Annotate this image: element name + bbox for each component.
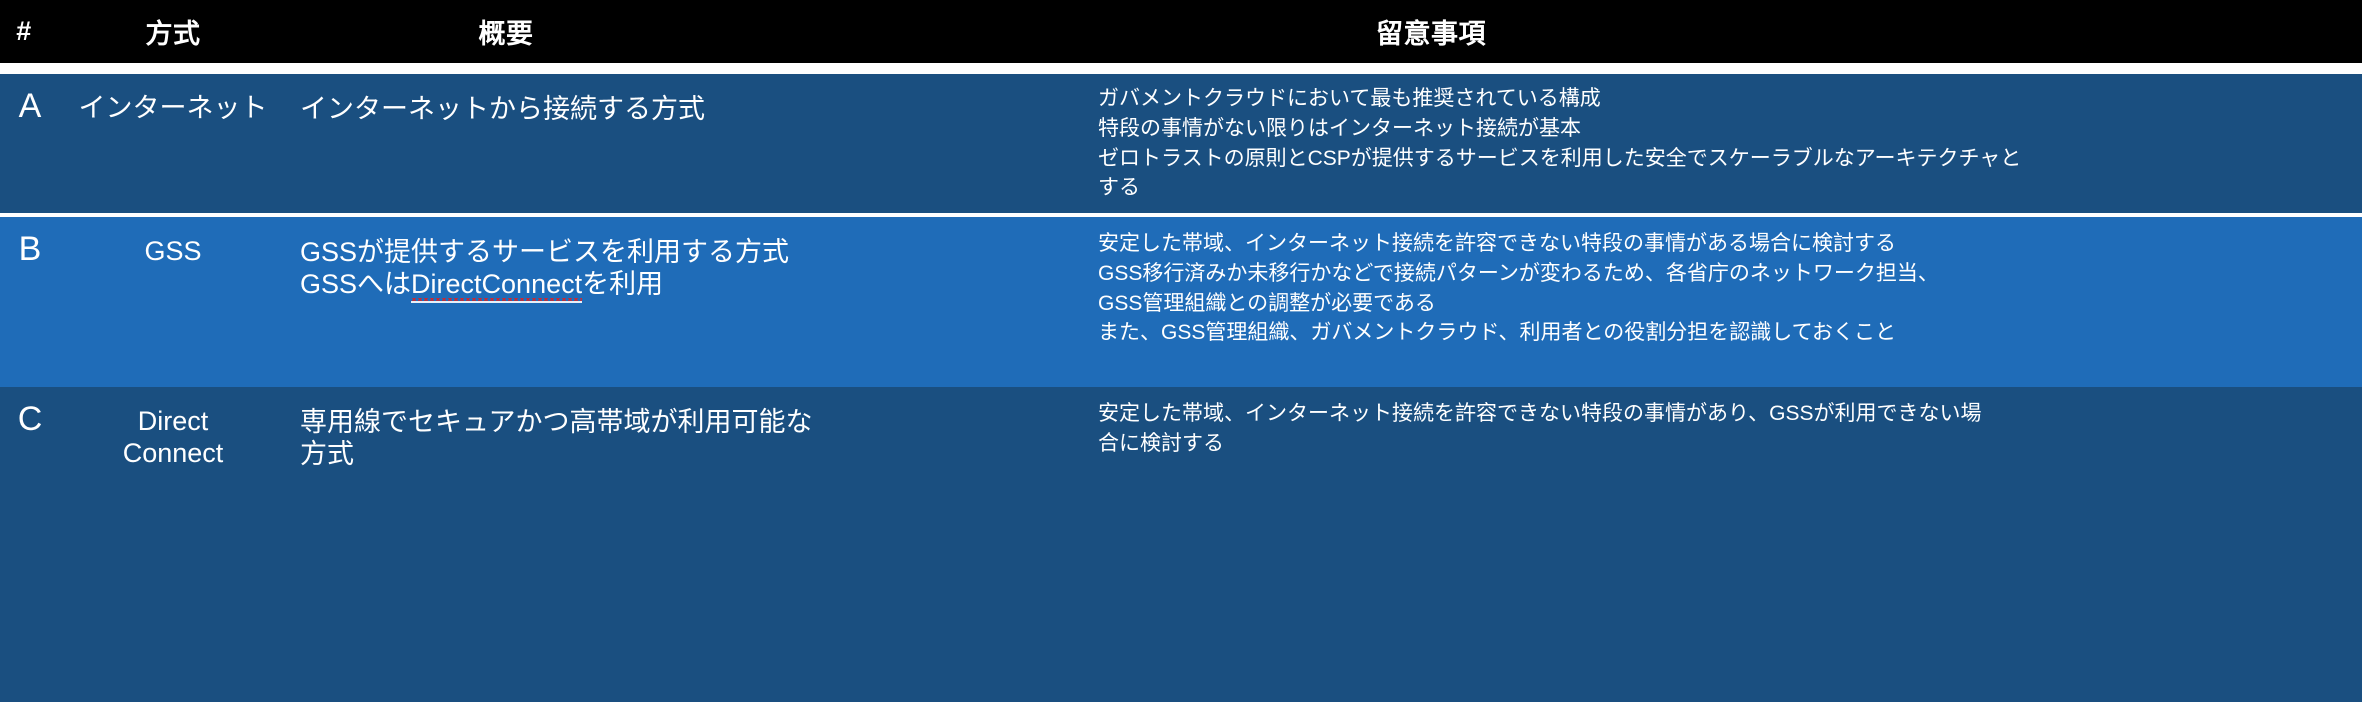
note-line: 合に検討する bbox=[1098, 429, 2362, 459]
row-notes-cell: ガバメントクラウドにおいて最も推奨されている構成 特段の事情がない限りはインター… bbox=[1098, 84, 2362, 203]
table-row[interactable]: B GSS GSSが提供するサービスを利用する方式 GSSへはDirectCon… bbox=[0, 217, 2362, 387]
row-notes-cell: 安定した帯域、インターネット接続を許容できない特段の事情がある場合に検討する G… bbox=[1098, 229, 2362, 348]
note-line: 安定した帯域、インターネット接続を許容できない特段の事情があり、GSSが利用でき… bbox=[1098, 399, 2362, 429]
row-summary-cell: インターネットから接続する方式 bbox=[300, 93, 726, 125]
note-line: 安定した帯域、インターネット接続を許容できない特段の事情がある場合に検討する bbox=[1098, 229, 2362, 259]
method-line: Connect bbox=[60, 438, 286, 470]
method-line: Direct bbox=[60, 406, 286, 438]
note-line: GSS移行済みか未移行かなどで接続パターンが変わるため、各省庁のネットワーク担当… bbox=[1098, 259, 2362, 289]
summary-line-with-spellcheck: GSSへはDirectConnectを利用 bbox=[300, 268, 726, 300]
note-line: する bbox=[1098, 173, 2362, 203]
note-line: また、GSS管理組織、ガバメントクラウド、利用者との役割分担を認識しておくこと bbox=[1098, 318, 2362, 348]
summary-line: インターネットから接続する方式 bbox=[300, 93, 726, 125]
row-id-cell: C bbox=[0, 399, 60, 439]
spellcheck-underlined-term[interactable]: DirectConnect bbox=[411, 269, 582, 303]
column-header-number: # bbox=[0, 0, 48, 63]
row-id-cell: A bbox=[0, 86, 60, 126]
row-method-cell: インターネット bbox=[60, 93, 286, 125]
row-summary-cell: GSSが提供するサービスを利用する方式 GSSへはDirectConnectを利… bbox=[300, 236, 726, 301]
column-header-summary: 概要 bbox=[286, 0, 726, 63]
row-method-cell: Direct Connect bbox=[60, 406, 286, 470]
table-row[interactable]: C Direct Connect 専用線でセキュアかつ高帯域が利用可能な 方式 … bbox=[0, 387, 2362, 702]
header-divider bbox=[0, 63, 2362, 74]
column-header-method: 方式 bbox=[60, 0, 286, 63]
note-line: 特段の事情がない限りはインターネット接続が基本 bbox=[1098, 114, 2362, 144]
column-header-notes: 留意事項 bbox=[726, 0, 2136, 63]
row-method-cell: GSS bbox=[60, 236, 286, 268]
note-line: ゼロトラストの原則とCSPが提供するサービスを利用した安全でスケーラブルなアーキ… bbox=[1098, 144, 2362, 174]
table-header-row: # 方式 概要 留意事項 bbox=[0, 0, 2362, 63]
note-line: ガバメントクラウドにおいて最も推奨されている構成 bbox=[1098, 84, 2362, 114]
summary-line: GSSが提供するサービスを利用する方式 bbox=[300, 236, 726, 268]
row-summary-cell: 専用線でセキュアかつ高帯域が利用可能な 方式 bbox=[300, 406, 726, 471]
row-id-cell: B bbox=[0, 229, 60, 269]
note-line: GSS管理組織との調整が必要である bbox=[1098, 289, 2362, 319]
summary-line: 専用線でセキュアかつ高帯域が利用可能な bbox=[300, 406, 726, 438]
slide-root: # 方式 概要 留意事項 A インターネット インターネットから接続する方式 ガ… bbox=[0, 0, 2362, 702]
table-row[interactable]: A インターネット インターネットから接続する方式 ガバメントクラウドにおいて最… bbox=[0, 74, 2362, 213]
summary-line: 方式 bbox=[300, 438, 726, 470]
summary-text-prefix: GSSへは bbox=[300, 269, 411, 299]
row-divider bbox=[0, 213, 2362, 216]
summary-text-suffix: を利用 bbox=[582, 269, 663, 299]
row-notes-cell: 安定した帯域、インターネット接続を許容できない特段の事情があり、GSSが利用でき… bbox=[1098, 399, 2362, 459]
